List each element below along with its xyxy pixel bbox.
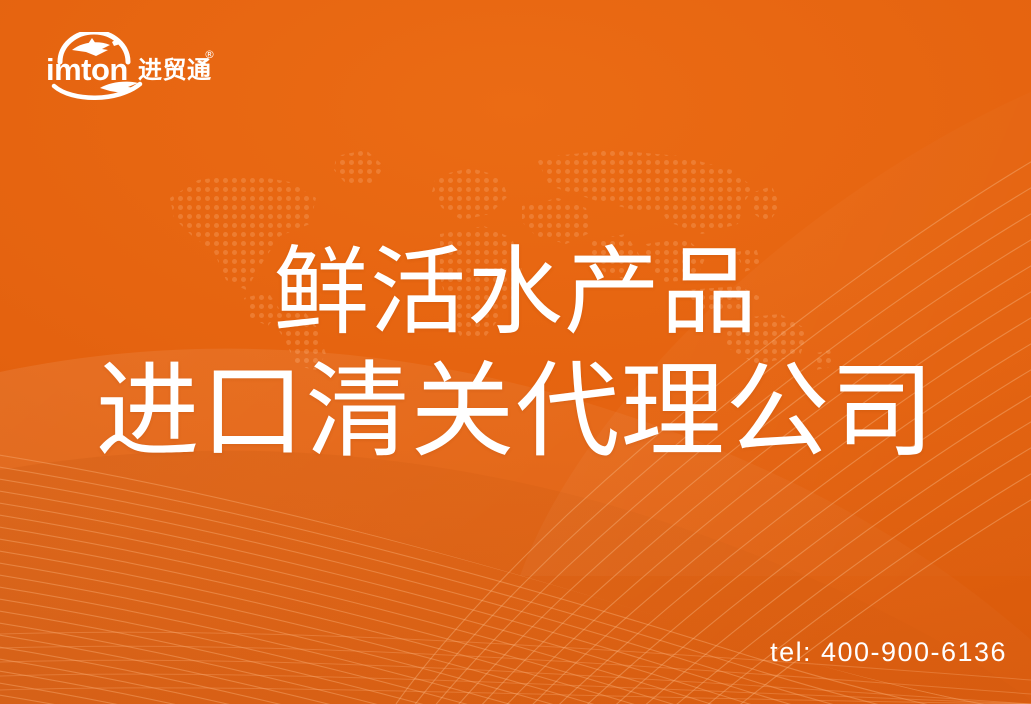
page-title: 鲜活水产品 进口清关代理公司 [0,236,1031,474]
logo-trademark-symbol: ® [204,48,215,61]
logo-chinese-name: 进贸通 [138,56,212,84]
promo-banner: imton 进贸通 ® 鲜活水产品 进口清关代理公司 tel: 400-900-… [0,0,1031,704]
contact-phone[interactable]: tel: 400-900-6136 [770,637,1007,668]
brand-logo[interactable]: imton 进贸通 ® [38,32,218,102]
headline-line-1: 鲜活水产品 [0,236,1031,349]
logo-wordmark: imton [46,52,128,87]
headline-line-2: 进口清关代理公司 [0,351,1031,474]
